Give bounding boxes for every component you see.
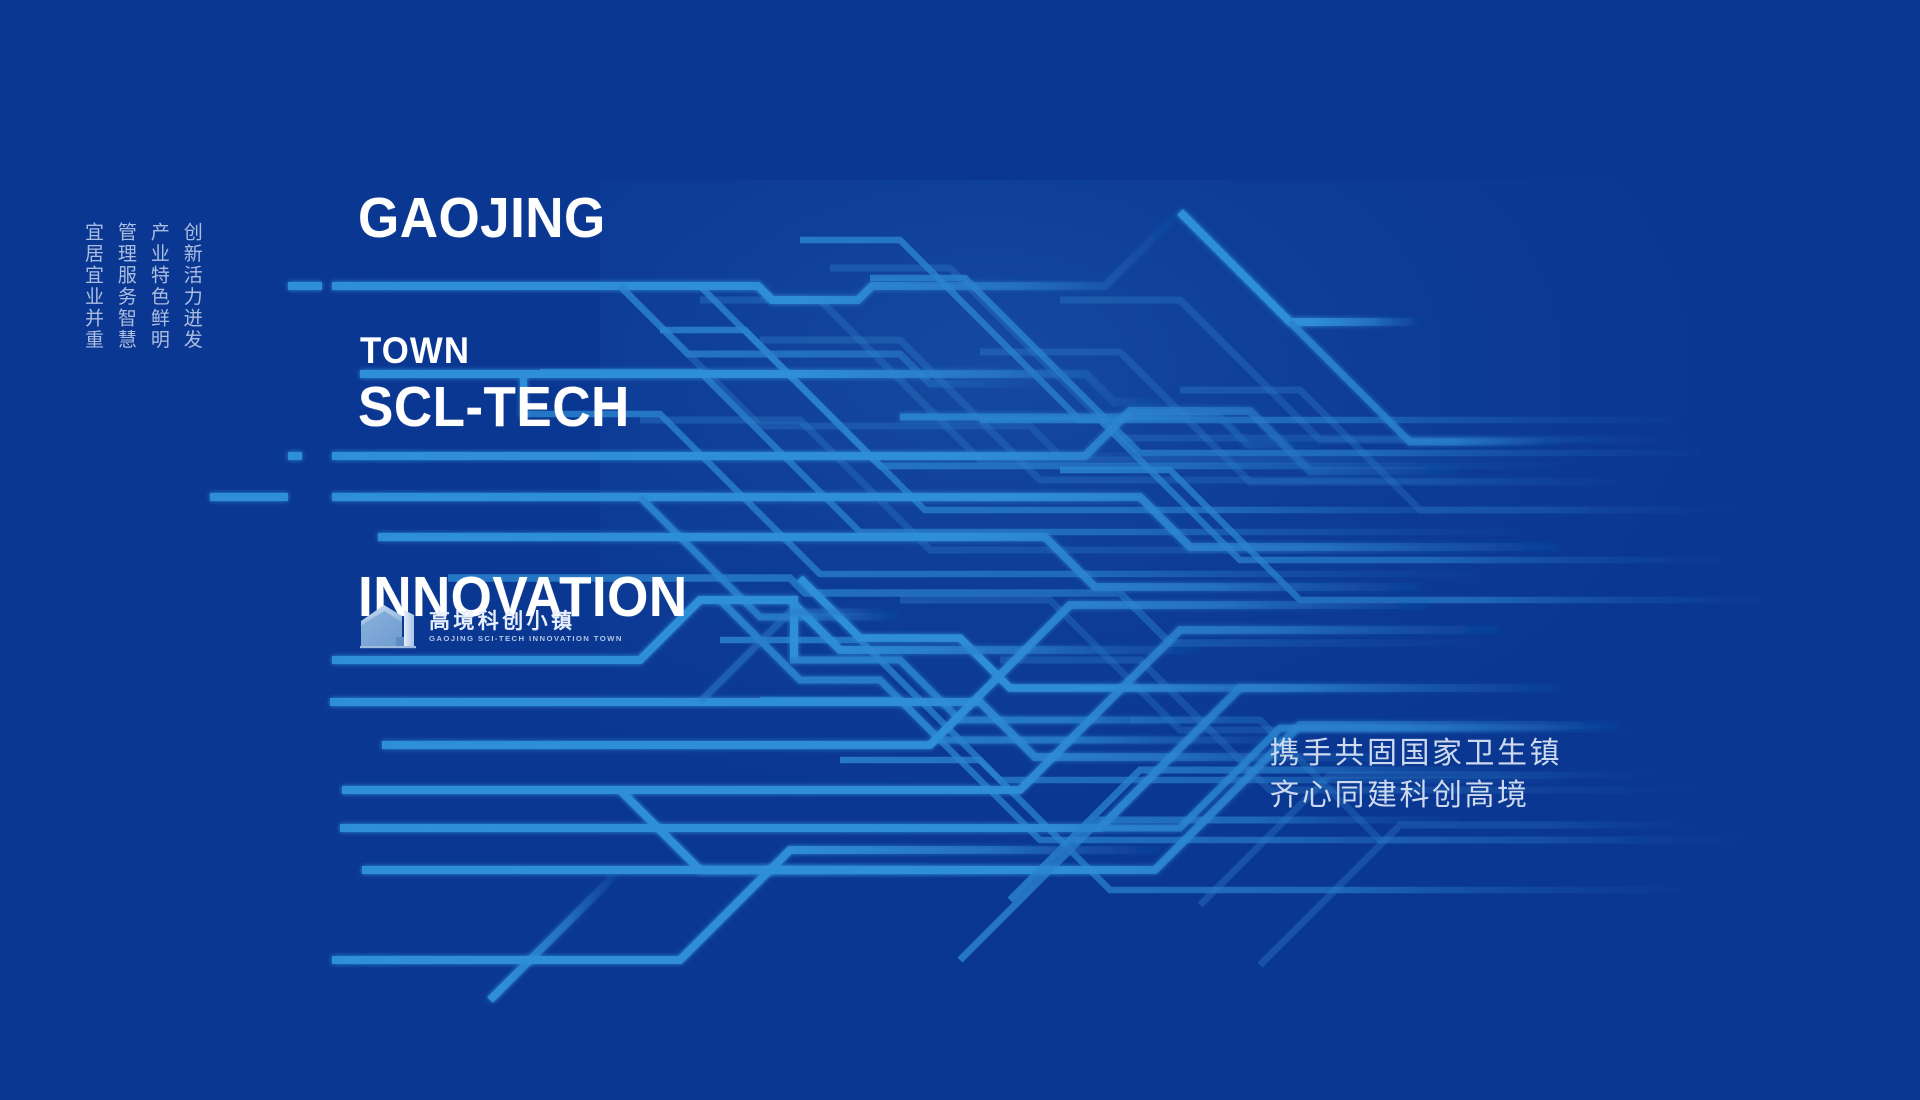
vertical-slogan: 创新活力迸发 产业特色鲜明 管理服务智慧 宜居宜业并重 xyxy=(80,222,203,351)
vertical-slogan-column-1: 创新活力迸发 xyxy=(179,222,203,351)
bottom-slogan: 携手共固国家卫生镇 齐心同建科创高境 xyxy=(1270,733,1563,818)
bottom-slogan-line-2: 齐心同建科创高境 xyxy=(1270,775,1563,818)
trace-dash xyxy=(288,452,302,460)
headline-line-2: SCL-TECH xyxy=(358,376,688,439)
vertical-slogan-column-2: 产业特色鲜明 xyxy=(146,222,170,351)
trace-dash xyxy=(210,493,288,501)
house-building-icon xyxy=(358,604,420,650)
poster-canvas: GAOJING SCL-TECH INNOVATION TOWN 创新活力迸发 … xyxy=(0,0,1920,1100)
vertical-slogan-column-4: 宜居宜业并重 xyxy=(80,222,104,351)
headline-line-4: TOWN xyxy=(360,330,470,372)
logo-english-name: GAOJING SCI-TECH INNOVATION TOWN xyxy=(429,635,623,643)
logo-text-group: 高境科创小镇 GAOJING SCI-TECH INNOVATION TOWN xyxy=(429,611,619,643)
vertical-slogan-column-3: 管理服务智慧 xyxy=(113,222,137,351)
logo-chinese-name: 高境科创小镇 xyxy=(429,611,619,632)
circuit-trace-pattern xyxy=(0,0,1920,1100)
bottom-slogan-line-1: 携手共固国家卫生镇 xyxy=(1270,733,1563,776)
brand-logo: 高境科创小镇 GAOJING SCI-TECH INNOVATION TOWN xyxy=(358,604,619,650)
trace-dash xyxy=(288,282,322,290)
page-title: GAOJING SCL-TECH INNOVATION xyxy=(358,60,688,756)
headline-line-1: GAOJING xyxy=(358,187,688,250)
